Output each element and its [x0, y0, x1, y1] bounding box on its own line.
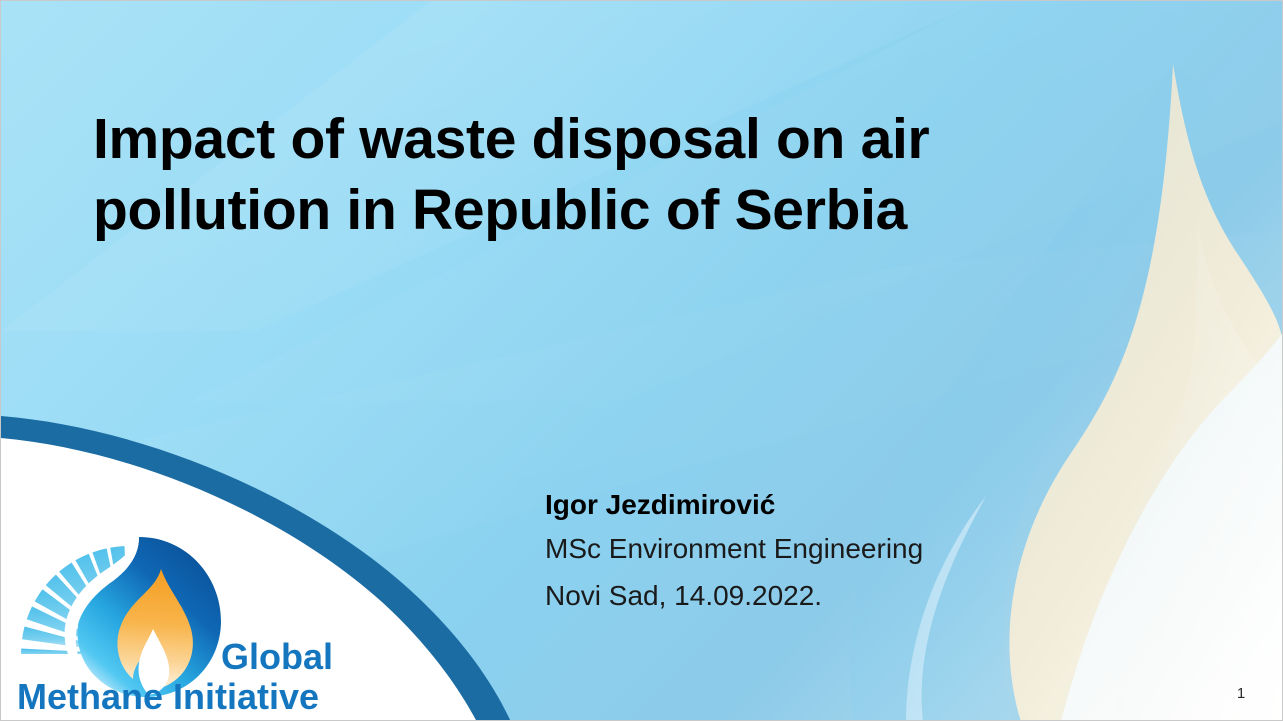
presentation-slide: Impact of waste disposal on air pollutio… [0, 0, 1283, 721]
global-methane-initiative-logo: Global Methane Initiative [9, 529, 379, 714]
logo-text-global: Global [221, 636, 333, 677]
presenter-name: Igor Jezdimirović [545, 485, 1165, 525]
presenter-block: Igor Jezdimirović MSc Environment Engine… [545, 485, 1165, 619]
presenter-location-date: Novi Sad, 14.09.2022. [545, 572, 1165, 619]
slide-number: 1 [1226, 685, 1256, 702]
logo-text-methane-initiative: Methane Initiative [17, 676, 319, 714]
presenter-affiliation: MSc Environment Engineering [545, 525, 1165, 572]
slide-title: Impact of waste disposal on air pollutio… [93, 104, 1153, 247]
